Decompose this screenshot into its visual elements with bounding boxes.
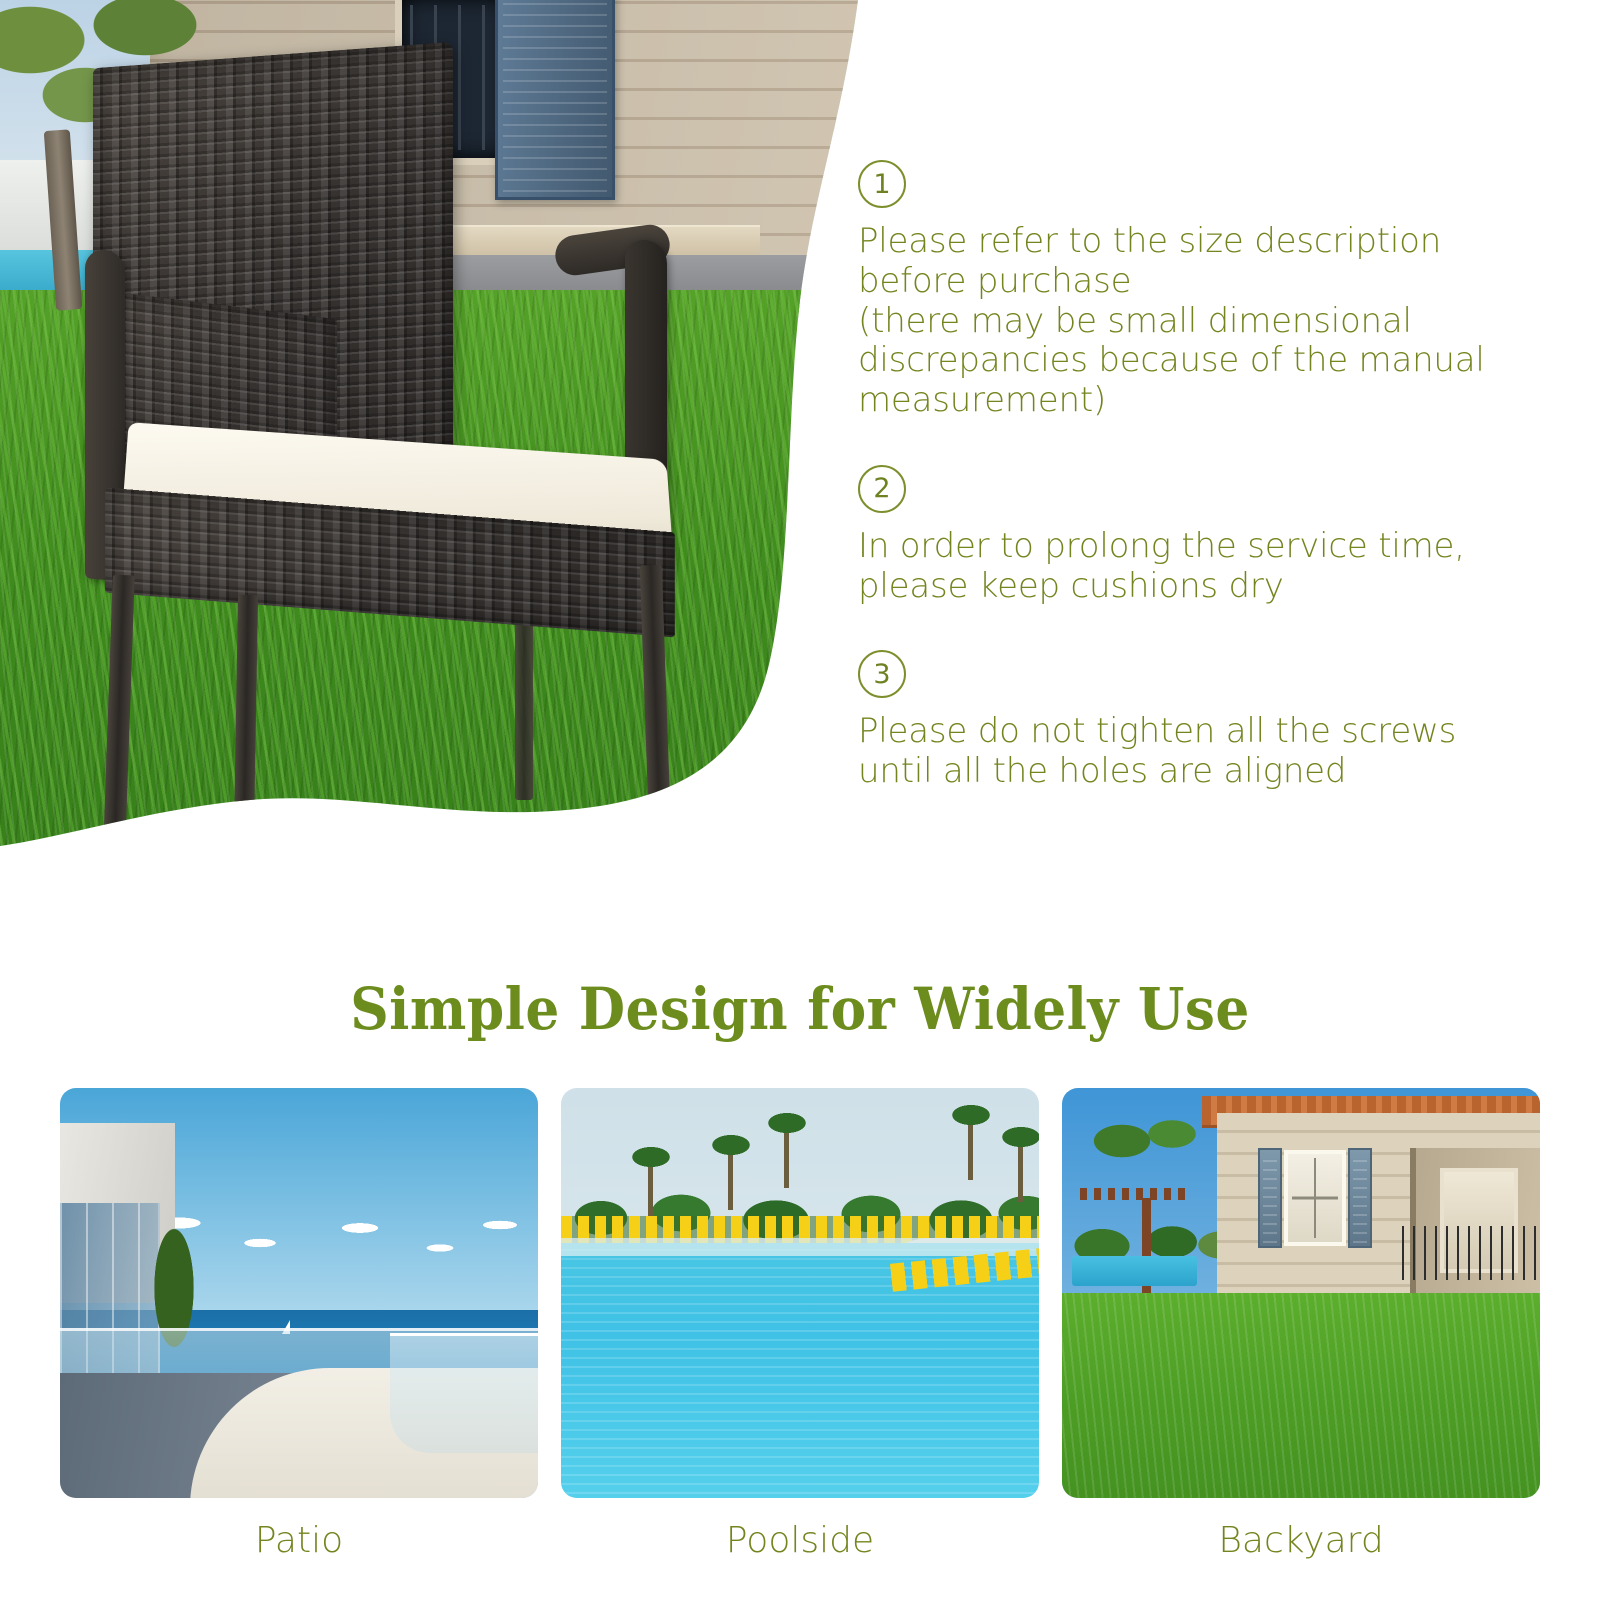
note-item: 2 In order to prolong the service time, …: [858, 465, 1558, 607]
house-window: [1284, 1150, 1346, 1246]
note-number-badge: 2: [858, 465, 906, 513]
house-shutter-left: [1258, 1148, 1282, 1248]
usage-gallery: Patio Poolside: [60, 1088, 1540, 1561]
palm-tree: [621, 1140, 681, 1220]
note-number-badge: 1: [858, 160, 906, 208]
backyard-lawn: [1062, 1293, 1540, 1498]
hero-image: [0, 0, 880, 900]
backyard-tree: [1077, 1106, 1197, 1191]
poolside-thumbnail: [561, 1088, 1039, 1498]
care-notes-list: 1 Please refer to the size description b…: [858, 160, 1558, 836]
section-title: Simple Design for Widely Use: [64, 975, 1536, 1043]
note-number-badge: 3: [858, 650, 906, 698]
patio-glass-railing-curved: [390, 1333, 538, 1453]
gallery-caption: Patio: [60, 1520, 538, 1561]
rattan-chair: [85, 55, 700, 900]
gallery-caption: Backyard: [1062, 1520, 1540, 1561]
house-shutter-right: [1348, 1148, 1372, 1248]
note-text: Please do not tighten all the screws unt…: [858, 712, 1558, 792]
gallery-card-patio: Patio: [60, 1088, 538, 1561]
backyard-thumbnail: [1062, 1088, 1540, 1498]
note-item: 1 Please refer to the size description b…: [858, 160, 1558, 421]
palm-tree: [757, 1106, 817, 1186]
gallery-caption: Poolside: [561, 1520, 1039, 1561]
palm-tree: [991, 1120, 1039, 1200]
hero-scene: [0, 0, 880, 900]
note-text: In order to prolong the service time, pl…: [858, 527, 1558, 607]
palm-tree: [701, 1128, 761, 1208]
gallery-card-poolside: Poolside: [561, 1088, 1039, 1561]
chair-leg-front-left: [101, 575, 135, 900]
porch-railing: [1402, 1226, 1540, 1280]
gallery-card-backyard: Backyard: [1062, 1088, 1540, 1561]
chair-leg-back-left: [232, 595, 258, 900]
hero-clip-shape: [0, 0, 880, 900]
backyard-pool: [1072, 1256, 1197, 1286]
patio-thumbnail: [60, 1088, 538, 1498]
note-item: 3 Please do not tighten all the screws u…: [858, 650, 1558, 792]
note-text: Please refer to the size description bef…: [858, 222, 1558, 421]
pool-edge: [561, 1238, 1039, 1256]
